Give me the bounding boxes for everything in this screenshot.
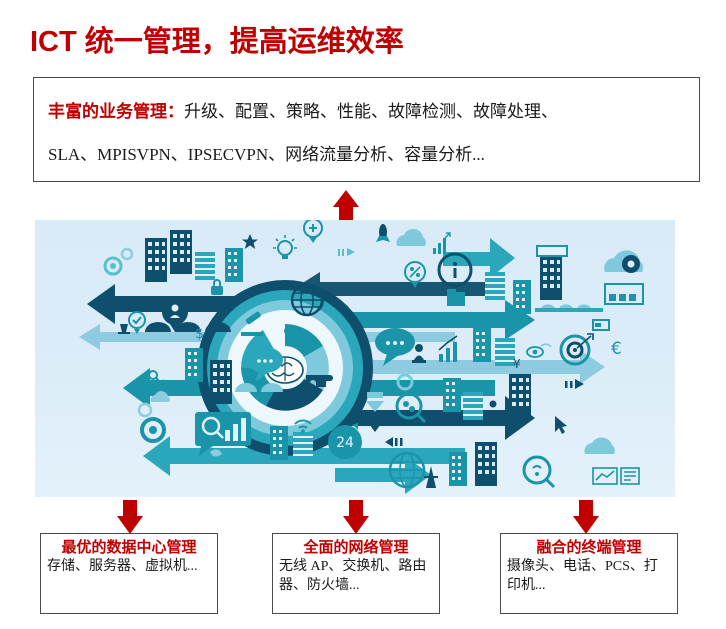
chess-pawn-icon: [412, 344, 426, 363]
gear-icon: [105, 258, 121, 274]
svg-text:$: $: [195, 326, 204, 342]
arrow-down-2-head: [343, 516, 369, 534]
eye-icon: [527, 344, 551, 357]
arrow-down-icon-2: [343, 500, 369, 534]
lightbulb-icon: [129, 312, 145, 334]
bottom-box-1-title: 最优的数据中心管理: [47, 538, 211, 557]
yen-icon: ¥: [513, 357, 521, 371]
bottom-box-2-body: 无线 AP、交换机、路由器、防火墙...: [279, 557, 433, 595]
gear-icon: [122, 249, 132, 259]
tower-icon: [424, 466, 438, 488]
description-box: 丰富的业务管理：升级、配置、策略、性能、故障检测、故障处理、 SLA、MPISV…: [33, 77, 700, 182]
bottom-box-2-title: 全面的网络管理: [279, 538, 433, 557]
rocket-icon: [376, 224, 390, 242]
bottom-box-1-body: 存储、服务器、虚拟机...: [47, 557, 211, 576]
gear-icon: [142, 419, 164, 441]
description-heading: 丰富的业务管理：: [48, 102, 184, 121]
lightbulb-icon: [273, 235, 297, 259]
dollar-icon: $: [195, 326, 204, 342]
arrow-down-1-head: [117, 516, 143, 534]
gear-icon: [139, 404, 151, 416]
ict-infographic: $: [35, 220, 675, 497]
cloud-icon: [396, 229, 425, 246]
arrow-down-3-head: [573, 516, 599, 534]
euro-icon: €: [611, 339, 622, 359]
cloud-eye-icon: [604, 250, 643, 273]
bottom-box-3-title: 融合的终端管理: [507, 538, 671, 557]
arrow-up-icon: [333, 190, 359, 220]
calendar-icon: [605, 284, 643, 304]
arrow-down-icon-3: [573, 500, 599, 534]
podium-icon: [118, 324, 130, 334]
cursor-icon: [555, 416, 567, 434]
arrow-up-head: [333, 190, 359, 207]
bottom-box-network: 全面的网络管理 无线 AP、交换机、路由器、防火墙...: [272, 533, 440, 614]
chart-line-icon: [593, 468, 639, 484]
card-icon: [593, 320, 609, 330]
star-icon: [242, 234, 258, 249]
svg-text:€: €: [611, 339, 622, 359]
play-arrow-left-icon: [385, 437, 403, 447]
cloud-icon: [584, 437, 614, 454]
lock-icon: [211, 280, 223, 295]
svg-text:24: 24: [336, 435, 354, 451]
bottom-box-data-center: 最优的数据中心管理 存储、服务器、虚拟机...: [40, 533, 218, 614]
plus-circle-icon: [304, 220, 322, 243]
arrow-up-shaft: [339, 206, 353, 220]
chess-pawn-icon: [487, 401, 499, 418]
description-line-1: 丰富的业务管理：升级、配置、策略、性能、故障检测、故障处理、: [48, 97, 558, 122]
description-line-2: SLA、MPISVPN、IPSECVPN、网络流量分析、容量分析...: [48, 140, 485, 165]
page-title: ICT 统一管理，提高运维效率: [30, 18, 404, 60]
bottom-box-terminal: 融合的终端管理 摄像头、电话、PCS、打印机...: [500, 533, 678, 614]
arrow-down-icon-1: [117, 500, 143, 534]
magnifier-icon: [524, 457, 554, 487]
description-line-1-text: 升级、配置、策略、性能、故障检测、故障处理、: [184, 102, 558, 121]
bottom-box-3-body: 摄像头、电话、PCS、打印机...: [507, 557, 671, 595]
svg-text:¥: ¥: [513, 357, 521, 371]
